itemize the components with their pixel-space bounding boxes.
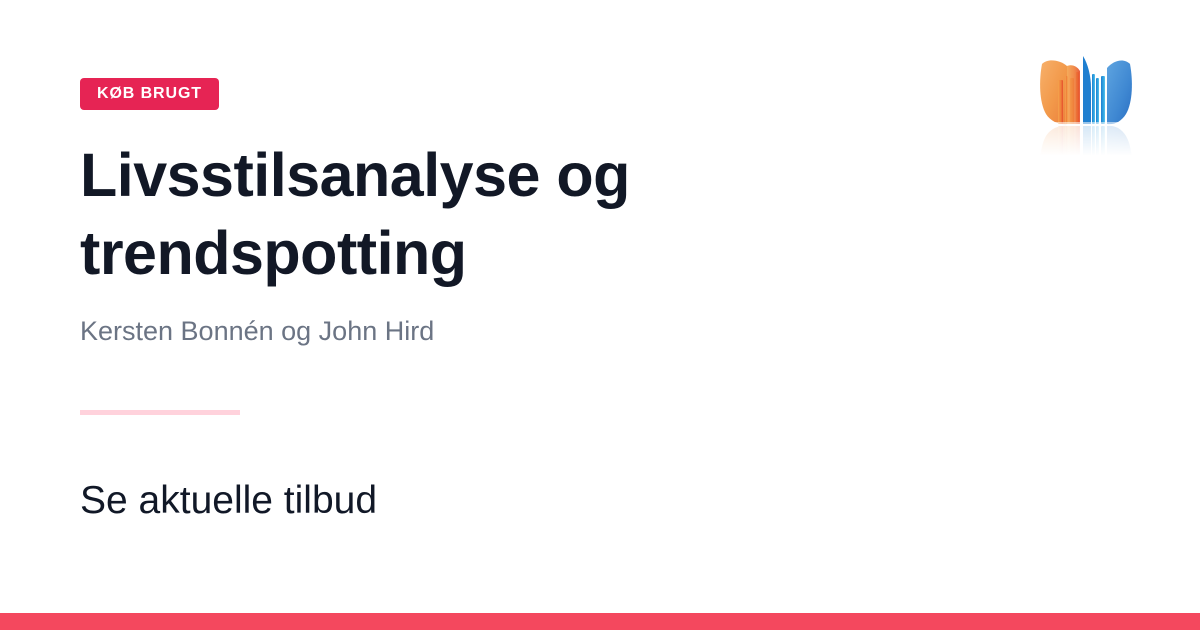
divider [80, 410, 240, 415]
page-title: Livsstilsanalyse og trendspotting [80, 136, 780, 292]
bottom-accent-bar [0, 613, 1200, 630]
logo-main-mark [1040, 56, 1132, 124]
cta-text: Se aktuelle tilbud [80, 478, 980, 524]
status-badge: KØB BRUGT [80, 78, 219, 110]
card-content: KØB BRUGT Livsstilsanalyse og trendspott… [80, 0, 980, 524]
og-card: KØB BRUGT Livsstilsanalyse og trendspott… [0, 0, 1200, 630]
logo-reflection [1036, 122, 1136, 155]
butterfly-barcode-logo [1036, 50, 1136, 155]
author-subtitle: Kersten Bonnén og John Hird [80, 314, 980, 348]
